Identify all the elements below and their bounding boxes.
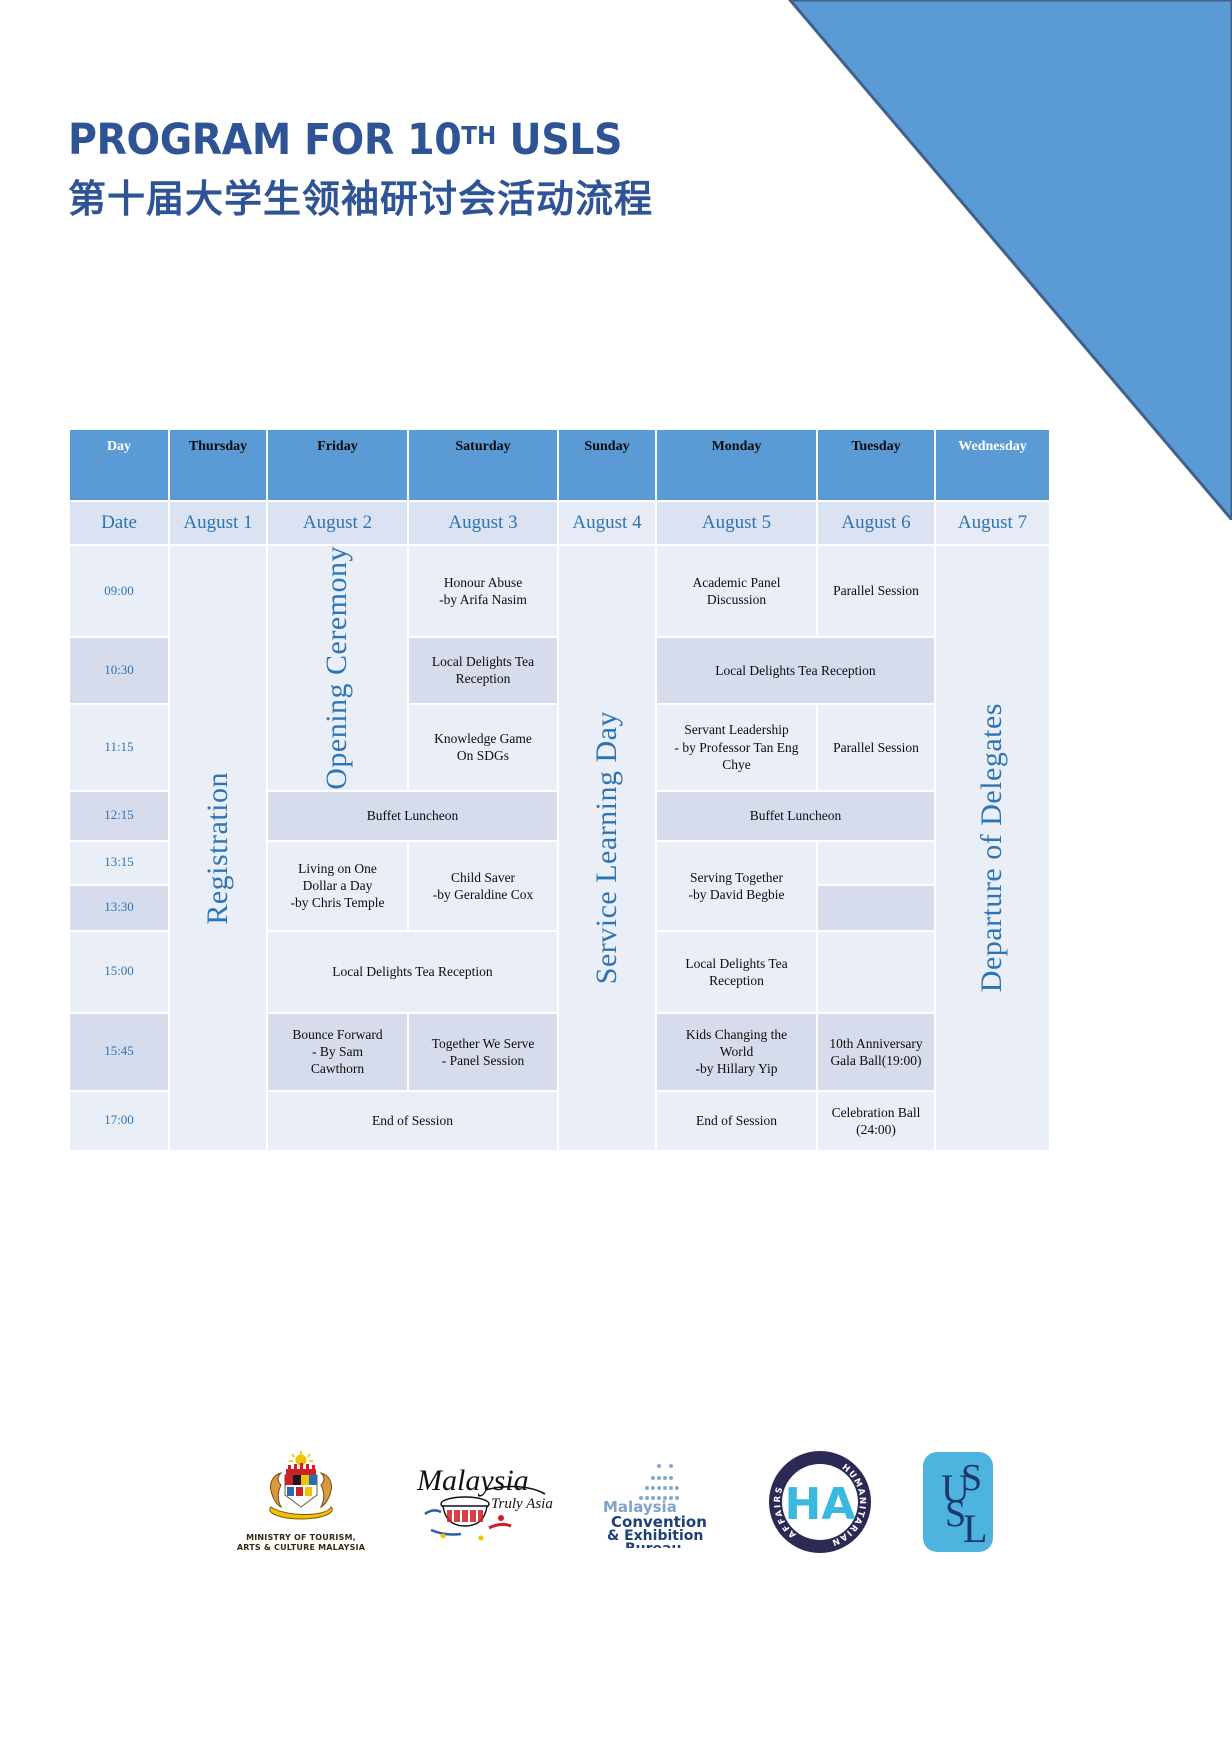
malaysia-truly-asia-logo: Malaysia Truly Asia [413,1456,553,1548]
page-title: PROGRAM FOR 10TH USLS [68,118,767,163]
cell-tuesday-1500-blank [818,932,934,1012]
session-gala-ball: 10th AnniversaryGala Ball(19:00) [818,1014,934,1090]
poster-header: PROGRAM FOR 10TH USLS 第十届大学生领袖研讨会活动流程 [68,118,828,221]
usls-monogram-icon: U S S L [921,1450,995,1554]
humanitarian-affairs-icon: HUMANITARIAN AFFAIRS HA [767,1449,873,1555]
column-header-thursday: Thursday [170,430,266,500]
time-1115: 11:15 [70,705,168,790]
column-header-wednesday: Wednesday [936,430,1049,500]
footer-logo-strip: MINISTRY OF TOURISM,ARTS & CULTURE MALAY… [0,1432,1232,1572]
session-together-we-serve: Together We Serve- Panel Session [409,1014,557,1090]
title-ordinal-suffix: TH [461,121,496,150]
column-header-sunday: Sunday [559,430,655,500]
date-august-5: August 5 [657,502,816,544]
date-august-4: August 4 [559,502,655,544]
session-kids-changing-world: Kids Changing theWorld-by Hillary Yip [657,1014,816,1090]
session-tea-reception-1500-mon: Local Delights TeaReception [657,932,816,1012]
date-august-3: August 3 [409,502,557,544]
mceb-icon: Malaysia Convention & Exhibition Bureau [601,1456,719,1548]
usls-logo: U S S L [921,1450,995,1554]
span-service-learning-day: Service Learning Day [559,546,655,1150]
cell-tuesday-1330-blank [818,886,934,930]
session-end-of-session-right: End of Session [657,1092,816,1150]
date-august-2: August 2 [268,502,407,544]
column-header-day: Day [70,430,168,500]
session-tea-reception-1500-left: Local Delights Tea Reception [268,932,557,1012]
session-child-saver: Child Saver-by Geraldine Cox [409,842,557,930]
cell-tuesday-1315-blank [818,842,934,884]
table-header-date-row: Date August 1 August 2 August 3 August 4… [70,502,1049,544]
session-living-on-one-dollar: Living on OneDollar a Day-by Chris Templ… [268,842,407,930]
span-opening-ceremony: Opening Ceremony [268,546,407,790]
title-main: PROGRAM FOR 10 [68,115,461,165]
span-registration: Registration [170,546,266,1150]
page-subtitle-chinese: 第十届大学生领袖研讨会活动流程 [68,179,828,221]
span-departure-of-delegates: Departure of Delegates [936,546,1049,1150]
humanitarian-affairs-logo: HUMANITARIAN AFFAIRS HA [767,1449,873,1555]
registration-label: Registration [199,772,237,925]
column-header-friday: Friday [268,430,407,500]
time-1315: 13:15 [70,842,168,884]
ministry-of-tourism-logo: MINISTRY OF TOURISM,ARTS & CULTURE MALAY… [237,1451,365,1553]
session-buffet-luncheon-right: Buffet Luncheon [657,792,934,840]
program-schedule-table: Day Thursday Friday Saturday Sunday Mond… [68,428,1051,1152]
session-tea-reception-sat: Local Delights TeaReception [409,638,557,702]
svg-text:Malaysia: Malaysia [416,1464,529,1497]
time-1545: 15:45 [70,1014,168,1090]
truly-asia-icon: Malaysia Truly Asia [413,1456,553,1548]
ministry-crest-icon [245,1451,357,1529]
svg-text:Truly Asia: Truly Asia [491,1496,553,1512]
session-bounce-forward: Bounce Forward- By SamCawthorn [268,1014,407,1090]
svg-text:HA: HA [785,1479,856,1530]
session-knowledge-game: Knowledge GameOn SDGs [409,705,557,790]
column-header-monday: Monday [657,430,816,500]
departure-label: Departure of Delegates [973,703,1011,992]
session-end-of-session-left: End of Session [268,1092,557,1150]
session-parallel-1: Parallel Session [818,546,934,636]
session-tea-reception-mon: Local Delights Tea Reception [657,638,934,702]
opening-ceremony-label: Opening Ceremony [318,546,356,790]
session-academic-panel: Academic PanelDiscussion [657,546,816,636]
session-serving-together: Serving Together-by David Begbie [657,842,816,930]
time-1500: 15:00 [70,932,168,1012]
svg-text:Bureau: Bureau [625,1541,681,1548]
ministry-logo-caption: MINISTRY OF TOURISM,ARTS & CULTURE MALAY… [237,1533,365,1553]
session-servant-leadership: Servant Leadership- by Professor Tan Eng… [657,705,816,790]
time-1215: 12:15 [70,792,168,840]
time-0900: 09:00 [70,546,168,636]
title-tail: USLS [496,115,622,165]
column-header-tuesday: Tuesday [818,430,934,500]
table-header-day-row: Day Thursday Friday Saturday Sunday Mond… [70,430,1049,500]
column-header-date: Date [70,502,168,544]
mceb-logo: Malaysia Convention & Exhibition Bureau [601,1456,719,1548]
time-1030: 10:30 [70,638,168,702]
session-parallel-2: Parallel Session [818,705,934,790]
date-august-1: August 1 [170,502,266,544]
session-celebration-ball: Celebration Ball(24:00) [818,1092,934,1150]
table-row: 09:00 Registration Opening Ceremony Hono… [70,546,1049,636]
session-honour-abuse: Honour Abuse-by Arifa Nasim [409,546,557,636]
column-header-saturday: Saturday [409,430,557,500]
session-buffet-luncheon-left: Buffet Luncheon [268,792,557,840]
date-august-7: August 7 [936,502,1049,544]
poster-page: PROGRAM FOR 10TH USLS 第十届大学生领袖研讨会活动流程 Da… [0,0,1232,1743]
date-august-6: August 6 [818,502,934,544]
time-1700: 17:00 [70,1092,168,1150]
time-1330: 13:30 [70,886,168,930]
svg-text:L: L [963,1506,987,1551]
service-learning-day-label: Service Learning Day [588,711,626,984]
